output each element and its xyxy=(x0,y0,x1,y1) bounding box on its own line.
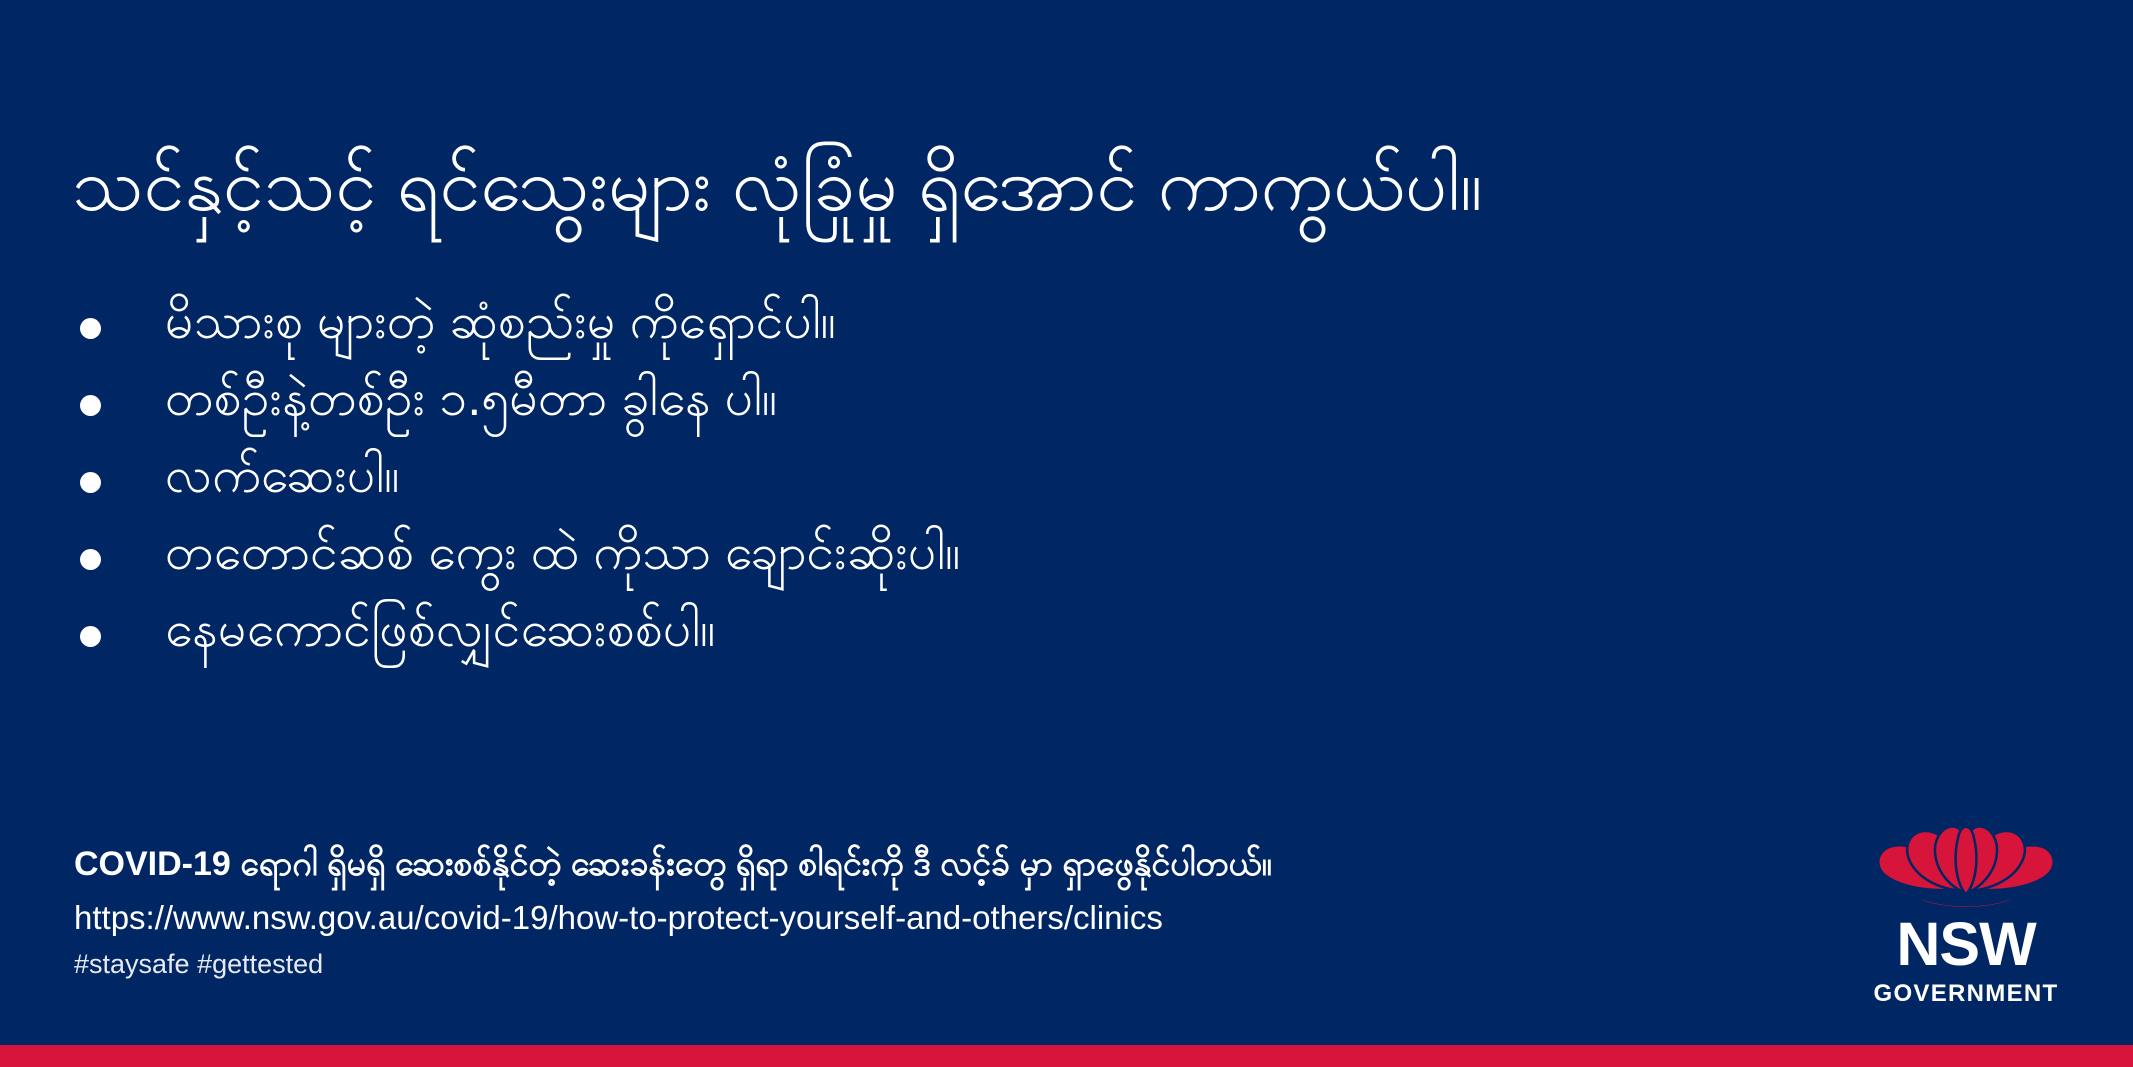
safety-tips-list: မိသားစု များတဲ့ ဆုံစည်းမှု ကိုရှောင်ပါ။ … xyxy=(66,296,1766,681)
list-item-label: နေမကောင်ဖြစ်လျှင်ဆေးစစ်ပါ။ xyxy=(165,604,1766,654)
bullet-dot-icon xyxy=(80,626,101,647)
list-item: မိသားစု များတဲ့ ဆုံစည်းမှု ကိုရှောင်ပါ။ xyxy=(66,296,1766,373)
list-item: နေမကောင်ဖြစ်လျှင်ဆေးစစ်ပါ။ xyxy=(66,604,1766,681)
bullet-dot-icon xyxy=(80,395,101,416)
logo-government-text: GOVERNMENT xyxy=(1873,982,2058,1006)
list-item-label: မိသားစု များတဲ့ ဆုံစည်းမှု ကိုရှောင်ပါ။ xyxy=(165,296,1766,346)
clinics-link[interactable]: https://www.nsw.gov.au/covid-19/how-to-p… xyxy=(74,900,1794,936)
list-item: တစ်ဦးနဲ့တစ်ဦး ၁.၅မီတာ ခွါနေ ပါ။ xyxy=(66,373,1766,450)
page-title: သင်နှင့်သင့် ရင်သွေးများ လုံခြုံမှု ရှိအ… xyxy=(72,142,2072,227)
list-item-label: တတောင်ဆစ် ကွေး ထဲ ကိုသာ ချောင်းဆိုးပါ။ xyxy=(165,527,1766,577)
list-item: တတောင်ဆစ် ကွေး ထဲ ကိုသာ ချောင်းဆိုးပါ။ xyxy=(66,527,1766,604)
list-item-label: တစ်ဦးနဲ့တစ်ဦး ၁.၅မီတာ ခွါနေ ပါ။ xyxy=(165,373,1766,423)
nsw-government-logo: NSW GOVERNMENT xyxy=(1851,806,2081,1011)
footer-clinic-info: COVID-19 ရောဂါ ရှိမရှိ ဆေးစစ်နိုင်တဲ့ ဆေ… xyxy=(74,845,1794,884)
bullet-dot-icon xyxy=(80,318,101,339)
poster-canvas: သင်နှင့်သင့် ရင်သွေးများ လုံခြုံမှု ရှိအ… xyxy=(0,0,2133,1067)
list-item-label: လက်ဆေးပါ။ xyxy=(165,450,1766,500)
footer-text-block: COVID-19 ရောဂါ ရှိမရှိ ဆေးစစ်နိုင်တဲ့ ဆေ… xyxy=(74,845,1794,980)
bullet-dot-icon xyxy=(80,472,101,493)
bottom-accent-bar xyxy=(0,1045,2133,1067)
list-item: လက်ဆေးပါ။ xyxy=(66,450,1766,527)
hashtags: #staysafe #gettested xyxy=(74,950,1794,980)
bullet-dot-icon xyxy=(80,549,101,570)
waratah-flower-icon xyxy=(1868,806,2064,910)
logo-nsw-text: NSW xyxy=(1896,914,2035,975)
